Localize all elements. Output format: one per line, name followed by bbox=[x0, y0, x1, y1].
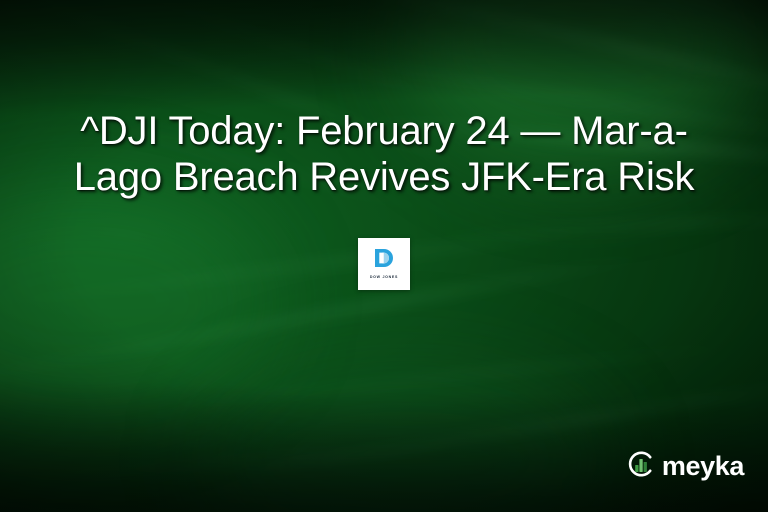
headline-title: ^DJI Today: February 24 — Mar-a-Lago Bre… bbox=[0, 108, 768, 200]
dow-jones-caption: DOW JONES bbox=[370, 276, 398, 280]
social-card: ^DJI Today: February 24 — Mar-a-Lago Bre… bbox=[0, 0, 768, 512]
meyka-watermark: meyka bbox=[626, 449, 744, 484]
meyka-brand-text: meyka bbox=[662, 453, 744, 480]
card-content: ^DJI Today: February 24 — Mar-a-Lago Bre… bbox=[0, 0, 768, 512]
dow-jones-logo: DOW JONES bbox=[358, 238, 410, 290]
meyka-circle-bars-icon bbox=[626, 449, 656, 484]
dow-jones-mark-icon bbox=[373, 248, 395, 273]
